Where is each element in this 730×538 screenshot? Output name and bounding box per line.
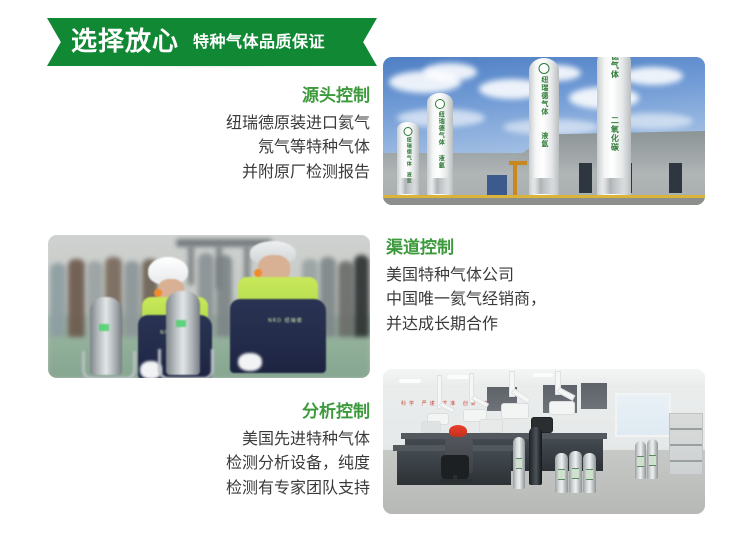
- fume-hood: [501, 403, 529, 419]
- cylinder-label: [637, 456, 643, 467]
- photo-workers-handling-cylinders: NRD 纽瑞德 NRD 纽瑞德 两名身穿深蓝: [48, 235, 370, 378]
- tank-valve-assembly: [400, 178, 416, 194]
- section-source-line-3: 并附原厂检测报告: [120, 160, 370, 185]
- floor-cylinder: [647, 439, 658, 479]
- tank-gas-label: 二氧化碳: [610, 116, 619, 152]
- section-source-text: 源头控制 纽瑞德原装进口氦气 氖气等特种气体 并附原厂检测报告: [120, 84, 370, 185]
- tank-valve-assembly: [431, 178, 450, 194]
- lab-window: [615, 393, 671, 437]
- ground-strip: [383, 198, 705, 205]
- ribbon-content: 选择放心 特种气体品质保证: [47, 18, 377, 66]
- cloud-icon: [623, 67, 683, 85]
- rack-shelf: [670, 460, 702, 462]
- lab-scene: 科学 严谨 求准 创新 高效: [383, 369, 705, 514]
- headline-ribbon: 选择放心 特种气体品质保证: [47, 18, 377, 66]
- section-channel-text: 渠道控制 美国特种气体公司 中国唯一氦气经销商， 并达成长期合作: [386, 236, 686, 337]
- floor-cylinder: [583, 453, 596, 493]
- cylinder-marker: [176, 320, 187, 327]
- cylinder-cart: [158, 349, 214, 378]
- red-safety-helmet-icon: [449, 425, 467, 437]
- rack-shelf: [670, 428, 702, 430]
- tank-brand-label: 纽瑞德气体: [437, 111, 444, 146]
- section-source-line-1: 纽瑞德原装进口氦气: [120, 111, 370, 136]
- building-window: [579, 163, 592, 193]
- fume-hood: [549, 401, 575, 415]
- section-channel-line-3: 并达成长期合作: [386, 312, 686, 337]
- section-channel-heading: 渠道控制: [386, 236, 686, 261]
- section-analysis-line-1: 美国先进特种气体: [150, 427, 370, 452]
- floor-cylinder: [513, 437, 525, 489]
- lab-instrument: [479, 419, 503, 433]
- floor-cylinder: [635, 441, 646, 479]
- storage-rack: [669, 413, 703, 475]
- background-cylinder: [354, 255, 369, 337]
- cylinder-label: [558, 469, 565, 480]
- ear-plug-icon: [154, 289, 162, 297]
- brand-badge-icon: [404, 127, 413, 136]
- tank-gas-label: 液氩: [540, 132, 548, 148]
- ear-plug-icon: [254, 269, 262, 277]
- photo-cryogenic-storage-tanks: 纽瑞德气体 液氩 纽瑞德气体 液氩 纽瑞德气体 液氩 德气体 二氧化碳: [383, 57, 705, 205]
- workers-scene: NRD 纽瑞德 NRD 纽瑞德: [48, 235, 370, 378]
- section-source-heading: 源头控制: [120, 84, 370, 109]
- section-analysis-line-3: 检测有专家团队支持: [150, 476, 370, 501]
- ceiling-light: [447, 375, 469, 379]
- cylinder-label: [516, 458, 523, 469]
- cloud-icon: [423, 63, 477, 81]
- background-cylinder: [338, 261, 354, 337]
- background-cylinder: [50, 263, 66, 337]
- work-glove: [238, 353, 262, 371]
- cylinder-label: [572, 468, 579, 479]
- ribbon-subtitle: 特种气体品质保证: [193, 34, 325, 50]
- tank-valve-assembly: [602, 178, 626, 194]
- section-channel-line-1: 美国特种气体公司: [386, 263, 686, 288]
- building-window: [669, 163, 682, 193]
- rack-shelf: [670, 444, 702, 446]
- storage-tank: 德气体 二氧化碳: [597, 57, 631, 198]
- utility-shed: [487, 175, 507, 195]
- brand-badge-icon: [435, 99, 445, 109]
- cylinder-cart: [82, 351, 136, 378]
- section-source-line-2: 氖气等特种气体: [120, 135, 370, 160]
- window-blind: [581, 383, 607, 409]
- floor-cylinder: [555, 453, 568, 493]
- tank-brand-label: 德气体: [610, 57, 619, 79]
- storage-tank: 纽瑞德气体 液氩: [427, 93, 453, 198]
- tank-gas-label: 液氩: [437, 155, 444, 169]
- ribbon-title: 选择放心: [71, 29, 179, 55]
- crane-arm: [509, 161, 527, 165]
- lab-instrument: [421, 421, 441, 433]
- cylinder-label: [649, 455, 655, 466]
- section-analysis-line-2: 检测分析设备，纯度: [150, 451, 370, 476]
- cylinder-marker: [99, 324, 109, 331]
- storage-tank: 纽瑞德气体 液氩: [529, 58, 559, 198]
- tank-brand-label: 纽瑞德气体: [540, 76, 548, 116]
- tank-brand-label: 纽瑞德气体: [405, 137, 411, 167]
- crane-structure: [513, 163, 517, 195]
- ceiling-light: [533, 373, 553, 377]
- chair-post: [453, 475, 457, 483]
- brand-badge-icon: [539, 63, 550, 74]
- cylinder-label: [586, 469, 593, 480]
- background-cylinder: [68, 259, 85, 337]
- floor-cylinder: [569, 451, 582, 493]
- storage-tank: 纽瑞德气体 液氩: [397, 122, 419, 198]
- uniform-logo: NRD 纽瑞德: [268, 317, 303, 324]
- tank-valve-assembly: [533, 178, 555, 194]
- floor-cylinder: [529, 427, 542, 485]
- tanks-scene: 纽瑞德气体 液氩 纽瑞德气体 液氩 纽瑞德气体 液氩 德气体 二氧化碳: [383, 57, 705, 205]
- promo-page: 选择放心 特种气体品质保证 源头控制 纽瑞德原装进口氦气 氖气等特种气体 并附原…: [0, 0, 730, 538]
- ceiling-light: [399, 379, 421, 383]
- worker-right: NRD 纽瑞德: [228, 241, 336, 373]
- section-channel-line-2: 中国唯一氦气经销商，: [386, 287, 686, 312]
- photo-analysis-laboratory: 科学 严谨 求准 创新 高效: [383, 369, 705, 514]
- section-analysis-text: 分析控制 美国先进特种气体 检测分析设备，纯度 检测有专家团队支持: [150, 400, 370, 501]
- section-analysis-heading: 分析控制: [150, 400, 370, 425]
